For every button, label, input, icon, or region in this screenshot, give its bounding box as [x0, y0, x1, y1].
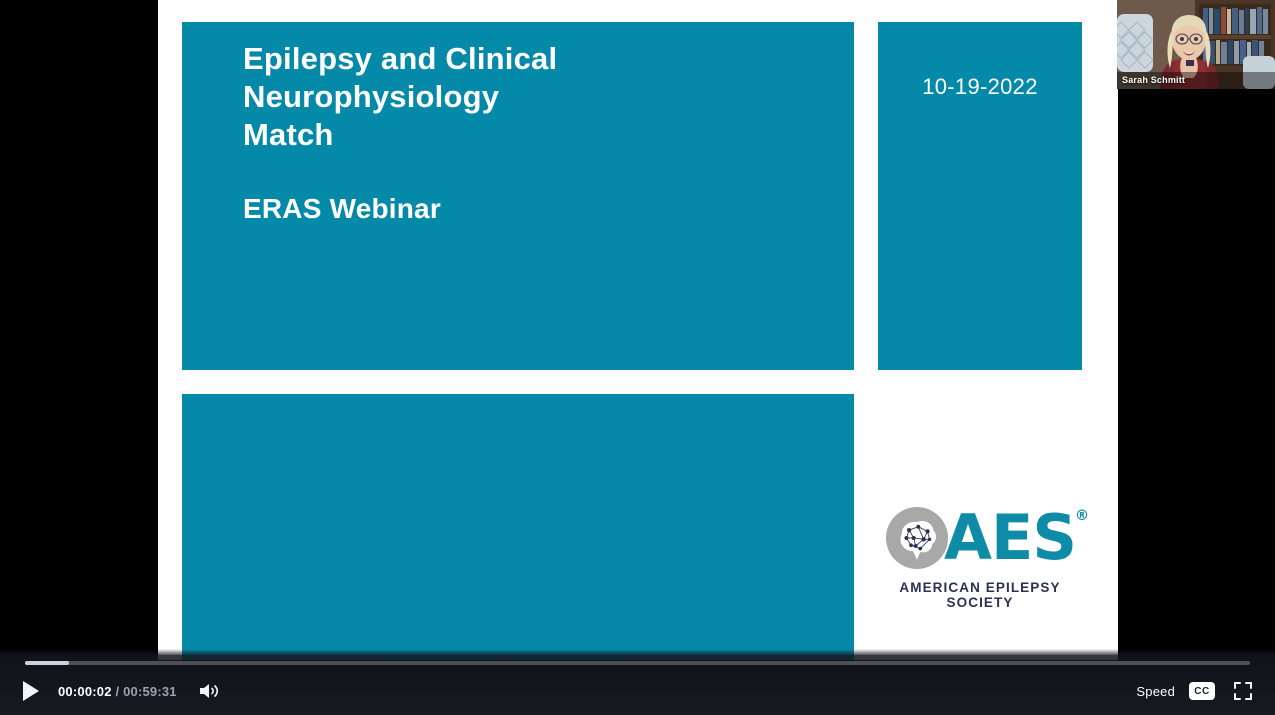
- webcam-overlay[interactable]: Sarah Schmitt: [1117, 0, 1275, 89]
- slide-canvas: Epilepsy and Clinical Neurophysiology Ma…: [158, 0, 1118, 660]
- player-controls-bar: 00:00:02 / 00:59:31 Speed CC: [0, 655, 1275, 715]
- slide-subtitle: ERAS Webinar: [243, 193, 441, 225]
- play-icon: [21, 680, 41, 702]
- webcam-participant-name: Sarah Schmitt: [1122, 75, 1185, 85]
- title-block: Epilepsy and Clinical Neurophysiology Ma…: [182, 22, 854, 370]
- registered-trademark-icon: ®: [1075, 509, 1088, 523]
- play-button[interactable]: [14, 674, 48, 708]
- brain-network-icon: [884, 505, 950, 571]
- current-time: 00:00:02: [58, 684, 112, 699]
- closed-captions-button[interactable]: CC: [1189, 682, 1215, 700]
- slide-title: Epilepsy and Clinical Neurophysiology Ma…: [243, 40, 843, 154]
- progress-bar-track[interactable]: [25, 661, 1250, 665]
- aes-logo: AES ® AMERICAN EPILEPSY SOCIETY: [878, 498, 1082, 618]
- fullscreen-icon: [1234, 682, 1252, 700]
- duration: 00:59:31: [123, 684, 177, 699]
- speed-button[interactable]: Speed: [1136, 684, 1175, 699]
- volume-button[interactable]: [193, 675, 225, 707]
- fullscreen-button[interactable]: [1231, 679, 1255, 703]
- controls-row: 00:00:02 / 00:59:31 Speed CC: [0, 669, 1275, 713]
- lower-content-block: [182, 394, 854, 660]
- volume-high-icon: [198, 681, 220, 701]
- slide-date: 10-19-2022: [878, 74, 1082, 100]
- aes-tagline: AMERICAN EPILEPSY SOCIETY: [878, 580, 1082, 610]
- time-display: 00:00:02 / 00:59:31: [58, 684, 177, 699]
- time-separator: /: [112, 684, 123, 699]
- aes-wordmark-text: AES: [944, 501, 1076, 574]
- aes-logo-mark: AES ®: [878, 498, 1082, 578]
- date-block: 10-19-2022: [878, 22, 1082, 370]
- progress-bar-fill: [25, 661, 69, 665]
- aes-wordmark: AES ®: [944, 507, 1076, 569]
- video-player: Epilepsy and Clinical Neurophysiology Ma…: [0, 0, 1275, 715]
